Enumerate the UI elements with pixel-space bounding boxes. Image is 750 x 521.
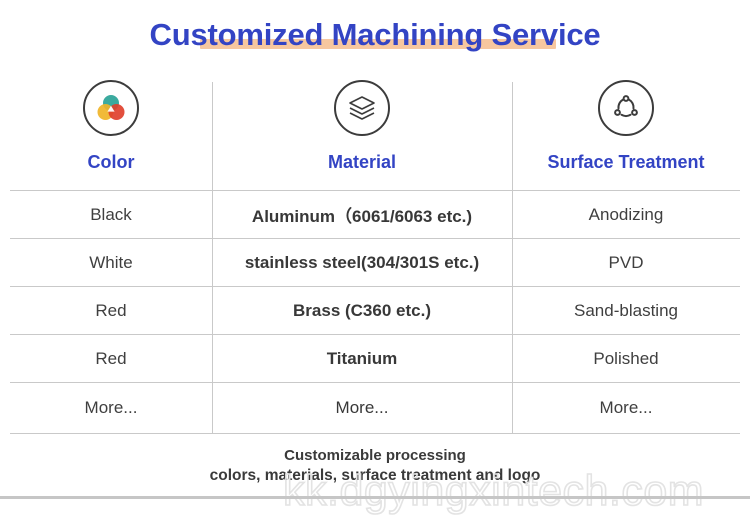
cell-surface: Sand-blasting [512,287,740,334]
surface-nodes-icon [598,80,654,136]
bottom-divider [0,496,750,499]
table-row: Red Brass (C360 etc.) Sand-blasting [10,287,740,335]
cell-material: Aluminum（6061/6063 etc.) [212,191,512,238]
cell-color: Red [10,335,212,382]
cell-color-more[interactable]: More... [10,383,212,433]
table-row-more[interactable]: More... More... More... [10,383,740,434]
footer-line-2: colors, materials, surface treatment and… [0,466,750,487]
column-divider-1 [212,82,213,434]
table-header-row: Color Material [10,70,740,191]
column-divider-2 [512,82,513,434]
cell-material: Titanium [212,335,512,382]
cell-material: Brass (C360 etc.) [212,287,512,334]
table-header-label-material: Material [328,152,396,173]
table-header-cell-material: Material [212,70,512,190]
layers-icon [334,80,390,136]
table-header-cell-surface: Surface Treatment [512,70,740,190]
cell-material-more[interactable]: More... [212,383,512,433]
cell-surface: Anodizing [512,191,740,238]
table-row: Black Aluminum（6061/6063 etc.) Anodizing [10,191,740,239]
table-row: White stainless steel(304/301S etc.) PVD [10,239,740,287]
footer-note: Customizable processing colors, material… [0,446,750,487]
cell-surface: Polished [512,335,740,382]
cell-color: Black [10,191,212,238]
footer-line-1: Customizable processing [0,446,750,466]
cell-surface-more[interactable]: More... [512,383,740,433]
table-header-label-color: Color [88,152,135,173]
table-row: Red Titanium Polished [10,335,740,383]
table-header-cell-color: Color [10,70,212,190]
cell-material: stainless steel(304/301S etc.) [212,239,512,286]
cell-color: White [10,239,212,286]
page-title-bar: Customized Machining Service [0,0,750,70]
cell-surface: PVD [512,239,740,286]
page-title: Customized Machining Service [150,17,601,53]
color-wheel-icon [83,80,139,136]
spec-table: Color Material [10,70,740,434]
cell-color: Red [10,287,212,334]
table-header-label-surface: Surface Treatment [547,152,704,173]
